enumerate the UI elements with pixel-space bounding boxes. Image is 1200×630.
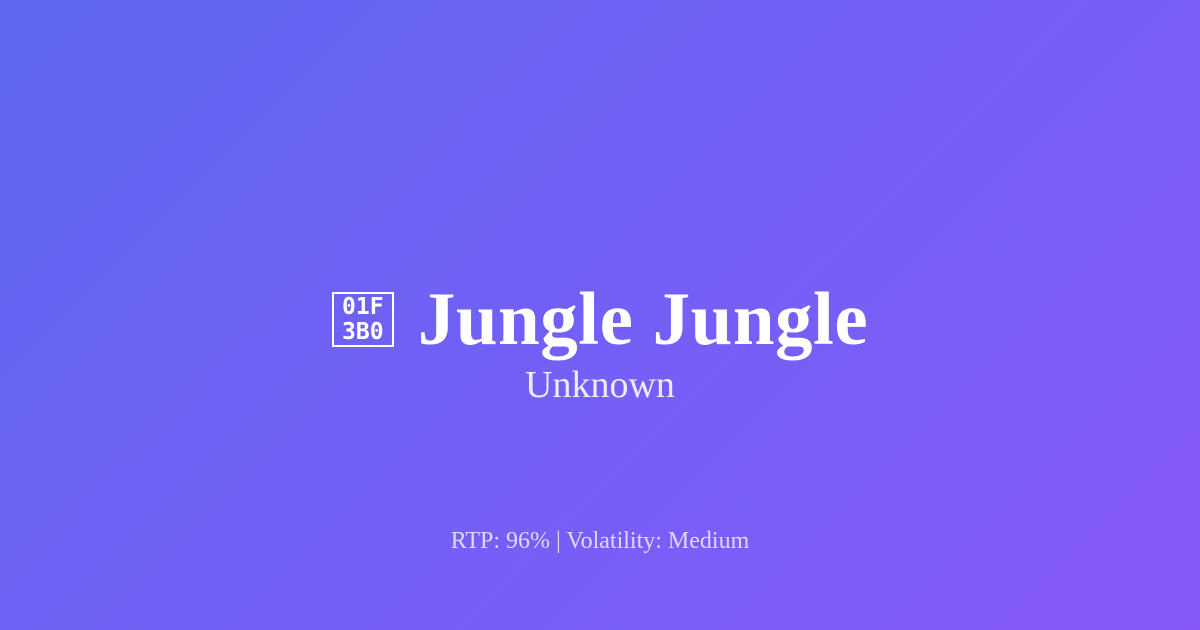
page-title: Jungle Jungle xyxy=(418,282,868,357)
emoji-codepoint-top: 01F xyxy=(342,295,384,320)
og-preview-card: 01F 3B0 Jungle Jungle Unknown RTP: 96% |… xyxy=(0,0,1200,630)
game-meta-line: RTP: 96% | Volatility: Medium xyxy=(0,529,1200,553)
slot-machine-emoji-icon: 01F 3B0 xyxy=(332,292,394,347)
page-subtitle: Unknown xyxy=(0,366,1200,404)
emoji-codepoint-bottom: 3B0 xyxy=(342,320,384,345)
